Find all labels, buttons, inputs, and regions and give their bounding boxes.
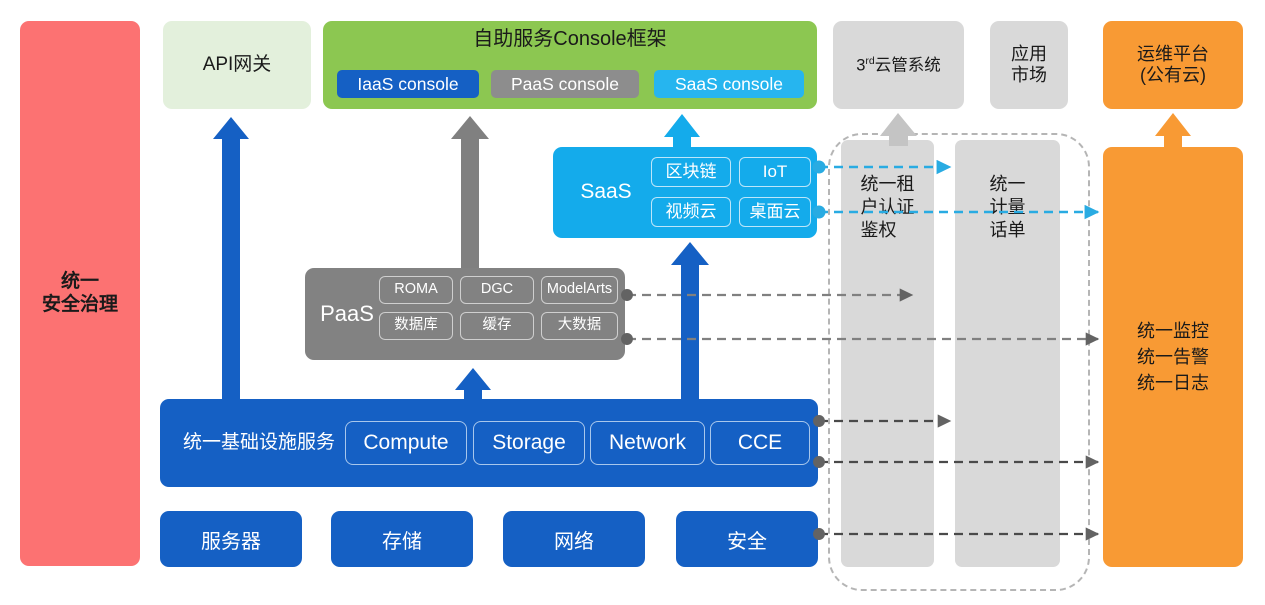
paas-console-chip[interactable]: PaaS console: [491, 70, 639, 98]
third-party-label: 3rd云管系统: [856, 55, 941, 76]
third-party-cloud-mgmt-box: 3rd云管系统: [833, 21, 964, 109]
auth-line1: 统一租: [861, 173, 915, 196]
iaas-service-compute[interactable]: Compute: [345, 421, 467, 465]
iaas-service-cce[interactable]: CCE: [710, 421, 810, 465]
ops-platform-top-box: 运维平台 (公有云): [1103, 21, 1243, 109]
metering-line2: 计量: [990, 196, 1026, 219]
ops-bottom-line3: 统一日志: [1137, 370, 1209, 396]
saas-service-desktop-cloud[interactable]: 桌面云: [739, 197, 811, 227]
ops-bottom-line2: 统一告警: [1137, 344, 1209, 370]
architecture-diagram: 统一 安全治理 API网关 自助服务Console框架 IaaS console…: [0, 0, 1265, 605]
paas-service-modelarts[interactable]: ModelArts: [541, 276, 618, 304]
arrow-iaas-to-api-gateway: [213, 117, 249, 399]
security-governance-line2: 安全治理: [42, 294, 118, 316]
console-framework-title: 自助服务Console框架: [323, 28, 817, 52]
app-market-line1: 应用: [1011, 44, 1047, 65]
hardware-network-box: 网络: [503, 511, 645, 567]
app-market-line2: 市场: [1011, 65, 1047, 86]
security-governance-line1: 统一: [42, 271, 118, 293]
iaas-layer-label: 统一基础设施服务: [174, 399, 344, 487]
paas-service-dgc[interactable]: DGC: [460, 276, 534, 304]
arrow-paas-to-console: [451, 116, 489, 268]
third-party-suffix: 云管系统: [875, 56, 941, 74]
console-framework-box: 自助服务Console框架 IaaS console PaaS console …: [323, 21, 817, 109]
hardware-server-box: 服务器: [160, 511, 302, 567]
metering-line3: 话单: [990, 219, 1026, 242]
iaas-layer-box: 统一基础设施服务 Compute Storage Network CCE: [160, 399, 818, 487]
iaas-service-network[interactable]: Network: [590, 421, 705, 465]
auth-line3: 鉴权: [861, 219, 915, 242]
arrow-iaas-to-paas: [455, 368, 491, 399]
ops-bottom-line1: 统一监控: [1137, 318, 1209, 344]
api-gateway-box: API网关: [163, 21, 311, 109]
auth-line2: 户认证: [861, 196, 915, 219]
arrow-saas-to-console: [664, 114, 700, 147]
third-party-superscript: rd: [865, 55, 874, 67]
paas-layer-label: PaaS: [311, 268, 383, 360]
api-gateway-label: API网关: [203, 54, 272, 76]
iaas-console-chip[interactable]: IaaS console: [337, 70, 479, 98]
hardware-storage-box: 存储: [331, 511, 473, 567]
paas-service-cache[interactable]: 缓存: [460, 312, 534, 340]
unified-tenant-auth-column: 统一租 户认证 鉴权: [841, 140, 934, 567]
saas-service-video-cloud[interactable]: 视频云: [651, 197, 731, 227]
saas-layer-box: SaaS 区块链 IoT 视频云 桌面云: [553, 147, 817, 238]
metering-line1: 统一: [990, 173, 1026, 196]
paas-service-database[interactable]: 数据库: [379, 312, 453, 340]
security-governance-panel: 统一 安全治理: [20, 21, 140, 566]
hardware-security-box: 安全: [676, 511, 818, 567]
iaas-service-storage[interactable]: Storage: [473, 421, 585, 465]
saas-layer-label: SaaS: [563, 147, 649, 238]
app-market-box: 应用 市场: [990, 21, 1068, 109]
saas-service-blockchain[interactable]: 区块链: [651, 157, 731, 187]
ops-platform-top-line1: 运维平台: [1137, 44, 1209, 65]
saas-service-iot[interactable]: IoT: [739, 157, 811, 187]
ops-platform-bottom-box: 统一监控 统一告警 统一日志: [1103, 147, 1243, 567]
saas-console-chip[interactable]: SaaS console: [654, 70, 804, 98]
paas-service-bigdata[interactable]: 大数据: [541, 312, 618, 340]
paas-layer-box: PaaS ROMA DGC ModelArts 数据库 缓存 大数据: [305, 268, 625, 360]
paas-service-roma[interactable]: ROMA: [379, 276, 453, 304]
ops-platform-top-line2: (公有云): [1137, 65, 1209, 86]
unified-metering-billing-column: 统一 计量 话单: [955, 140, 1060, 567]
arrow-ops-bottom-to-top: [1155, 113, 1191, 147]
arrow-iaas-to-saas: [671, 242, 709, 399]
